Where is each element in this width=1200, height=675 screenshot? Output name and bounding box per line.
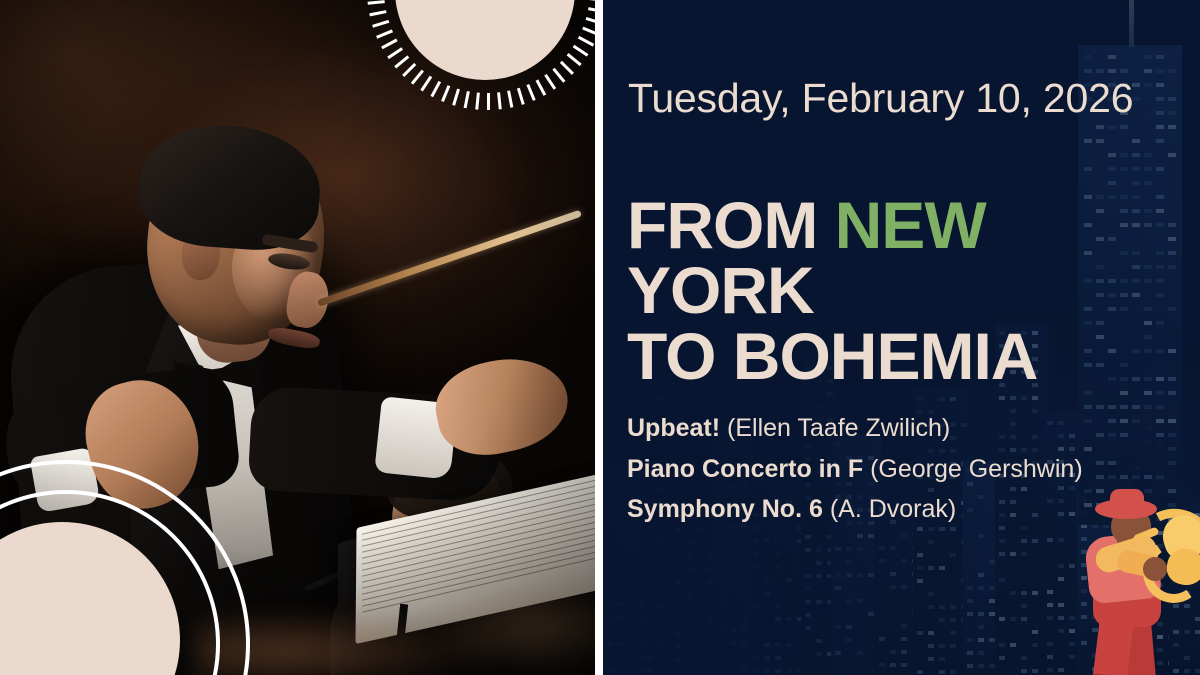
page-title: FROM NEW YORK TO BOHEMIA: [627, 193, 1187, 389]
sunburst-tick: [560, 61, 574, 75]
program-composer: (Ellen Taafe Zwilich): [720, 414, 950, 442]
player-hand: [1143, 557, 1167, 581]
headline-pre: FROM: [627, 188, 835, 262]
program-work-title: Upbeat!: [627, 414, 720, 442]
sunburst-tick: [497, 92, 502, 109]
program-composer: (George Gershwin): [863, 455, 1083, 483]
sunburst-tick: [381, 39, 397, 50]
sunburst-tick: [544, 74, 556, 90]
panel-divider: [595, 0, 603, 675]
sunburst-tick: [452, 89, 460, 106]
concentric-rings-decoration: [0, 460, 242, 675]
sunburst-tick: [573, 45, 589, 57]
sunburst-tick: [420, 76, 432, 92]
sunburst-tick: [567, 53, 582, 66]
sunburst-tick: [430, 81, 441, 97]
sunburst-tick: [526, 84, 535, 101]
headline-accent: NEW: [835, 188, 986, 262]
sunburst-tick: [387, 47, 403, 59]
sunburst-tick: [517, 88, 525, 105]
sunburst-tick: [394, 55, 409, 68]
sunburst-disc: [395, 0, 575, 80]
sunburst-tick: [475, 93, 480, 110]
sunburst-tick: [578, 36, 594, 47]
sunburst-tick: [372, 20, 389, 28]
sunburst-circle-decoration: [365, 0, 605, 110]
headline-line-1: FROM NEW YORK: [627, 193, 1187, 322]
program-composer: (A. Dvorak): [823, 495, 956, 523]
program-item: Piano Concerto in F (George Gershwin): [627, 449, 1200, 490]
program-item: Upbeat! (Ellen Taafe Zwilich): [627, 408, 1200, 449]
info-panel: Tuesday, February 10, 2026 FROM NEW YORK…: [603, 0, 1200, 675]
program-work-title: Symphony No. 6: [627, 495, 823, 523]
sunburst-tick: [464, 91, 470, 108]
sunburst-tick: [552, 68, 565, 83]
sunburst-tick: [376, 29, 393, 38]
headline-post: YORK: [627, 253, 814, 327]
player-hat-brim: [1095, 499, 1157, 519]
program-work-title: Piano Concerto in F: [627, 455, 863, 483]
sunburst-tick: [487, 93, 490, 110]
jazz-trumpet-player-illustration: [1055, 505, 1200, 675]
sunburst-tick: [402, 63, 416, 77]
sunburst-tick: [441, 85, 450, 102]
sunburst-tick: [507, 90, 513, 107]
event-date: Tuesday, February 10, 2026: [628, 75, 1133, 122]
sunburst-tick: [369, 10, 386, 16]
sunburst-tick: [411, 70, 424, 85]
sunburst-tick: [536, 79, 547, 95]
sunburst-tick: [368, 0, 385, 5]
concert-poster: Tuesday, February 10, 2026 FROM NEW YORK…: [0, 0, 1200, 675]
headline-line-2: TO BOHEMIA: [627, 324, 1187, 389]
